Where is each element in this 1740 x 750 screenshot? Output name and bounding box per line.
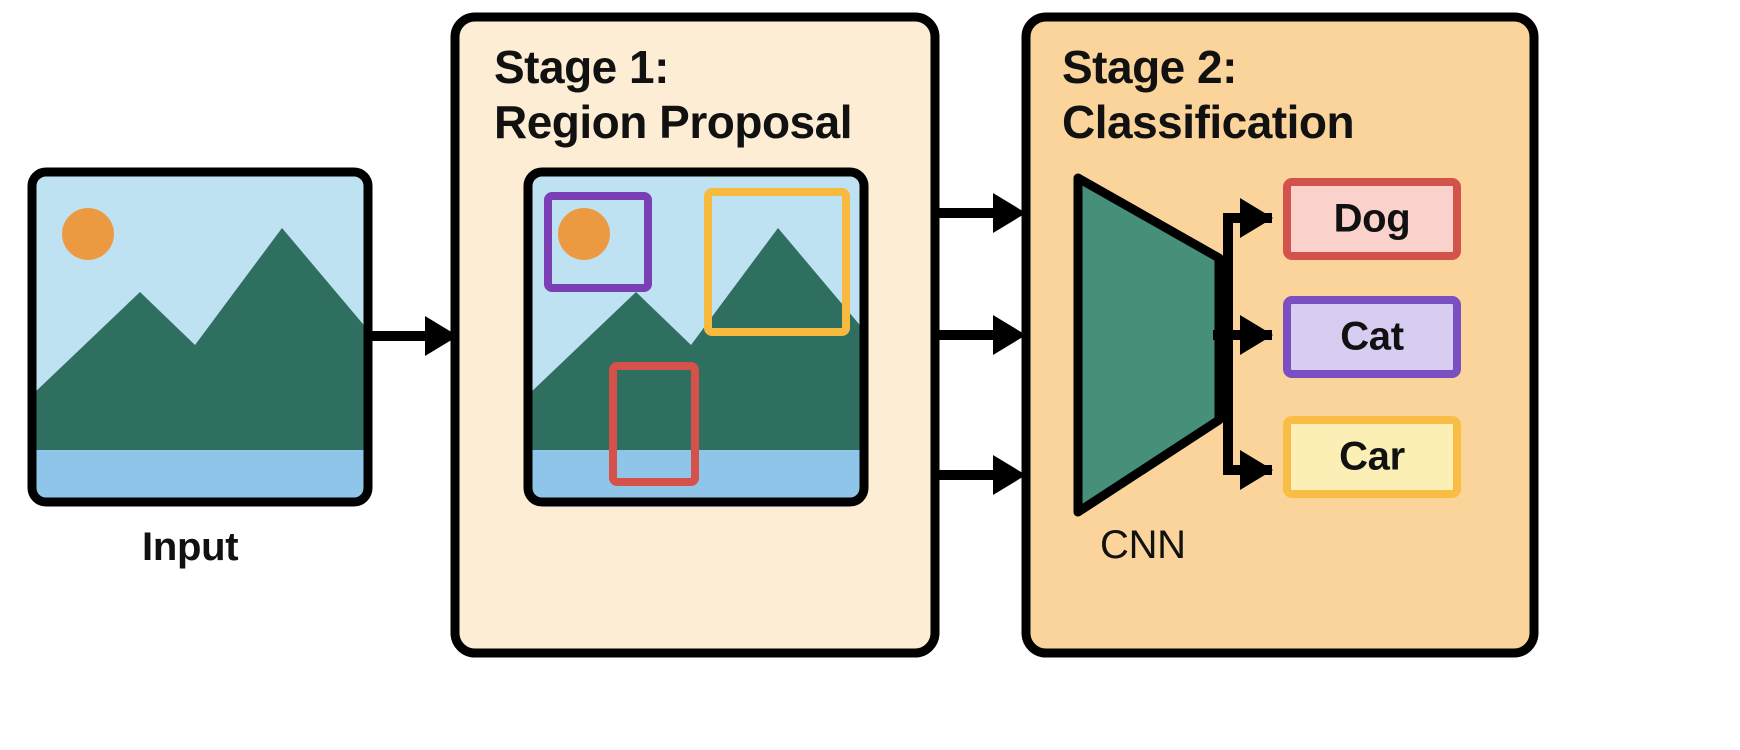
diagram-canvas: Input Stage 1: Region Proposal Stage 2: … xyxy=(0,0,1740,750)
class-label-dog: Dog xyxy=(1291,197,1453,242)
class-label-cat: Cat xyxy=(1291,315,1453,360)
class-box-cat[interactable]: Cat xyxy=(1283,296,1461,378)
cnn-caption: CNN xyxy=(1100,523,1186,568)
stage2-title-line1: Stage 2: xyxy=(1062,42,1237,94)
arrow-input-to-stage1 xyxy=(372,316,458,356)
class-label-car: Car xyxy=(1291,435,1453,480)
input-caption: Input xyxy=(142,525,238,570)
input-image xyxy=(32,172,368,502)
stage2-title-line2: Classification xyxy=(1062,97,1354,149)
stage1-title-line1: Stage 1: xyxy=(494,42,669,94)
diagram-vector-layer xyxy=(0,0,1740,750)
stage1-title-line2: Region Proposal xyxy=(494,97,852,149)
arrows-stage1-to-stage2 xyxy=(938,193,1026,495)
class-box-car[interactable]: Car xyxy=(1283,416,1461,498)
class-box-dog[interactable]: Dog xyxy=(1283,178,1461,260)
